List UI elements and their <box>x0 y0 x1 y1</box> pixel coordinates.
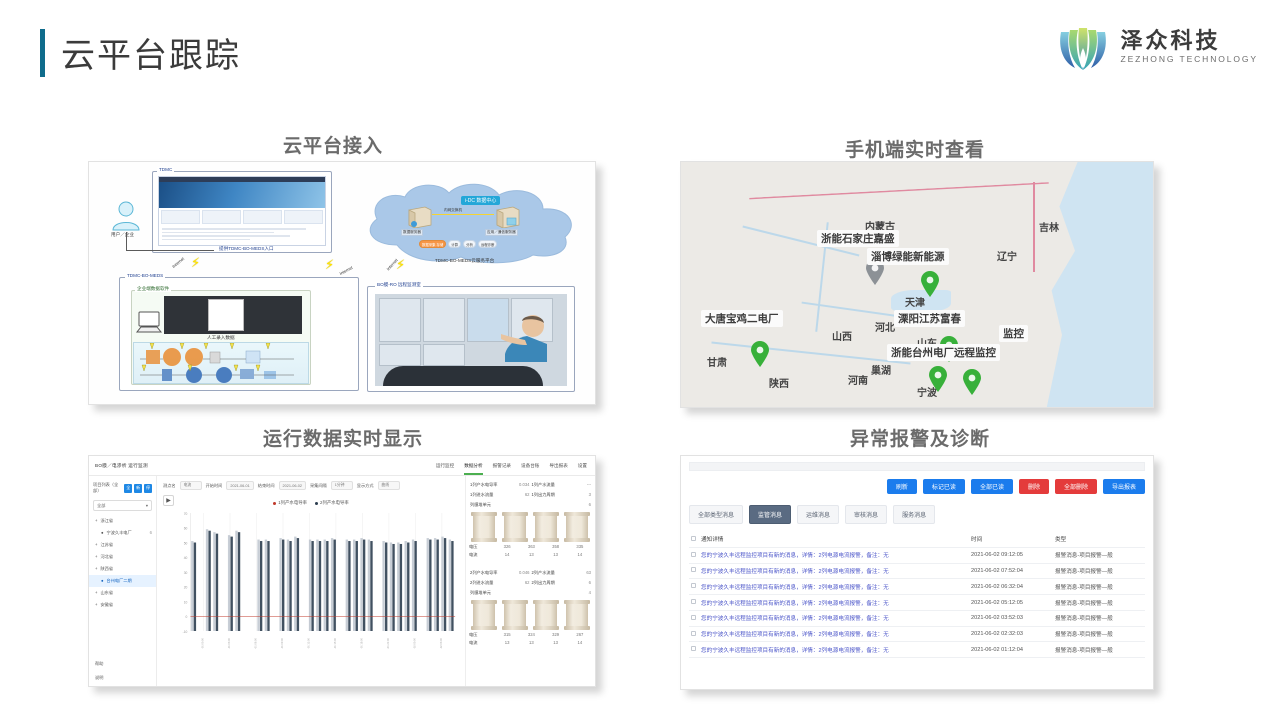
metric-row: 1列进水流量621列出力周期3 <box>469 490 592 500</box>
row-checkbox-cell[interactable] <box>689 626 699 642</box>
filter-interval-select[interactable]: 1分钟 <box>331 481 353 490</box>
column-header-detail: 通知详情 <box>699 532 969 547</box>
module-value-cell: 363 <box>519 544 543 550</box>
svg-text:0: 0 <box>186 615 188 619</box>
filter-start-date[interactable]: 2021-06-01 <box>226 481 253 490</box>
dot-icon: ● <box>101 578 104 584</box>
unit-label-text: 列膜堆单元 <box>470 590 491 596</box>
legend-label: 1列产水电导率 <box>278 500 307 506</box>
lightning-bolt-icon-1: ⚡ <box>191 256 200 269</box>
module-value-label: 电压 <box>469 632 495 638</box>
map-marker-label: 浙能石家庄嘉盛 <box>817 230 899 247</box>
membrane-unit-label: 列膜堆单元6 <box>470 502 591 508</box>
operator-person-icon <box>501 312 565 379</box>
filter-mode-select[interactable]: 曲线 <box>378 481 400 490</box>
screenshot-cloud-architecture: 用户／企业 TDMC 提供TDMC-BO-MEDS入口 i-DC 数据中心 <box>88 161 596 405</box>
dot-icon: ● <box>101 530 104 536</box>
row-type-cell: 报警消息-项目报警—般 <box>1053 547 1145 563</box>
row-detail-cell[interactable]: 您的宁波久丰远程监控项目有新的消息，详情：2列电源电流报警，备注：无 <box>699 579 969 595</box>
project-tree-item[interactable]: ●台州电厂二期 <box>89 575 156 587</box>
table-row[interactable]: 您的宁波久丰远程监控项目有新的消息，详情：2列电源电流报警，备注：无2021-0… <box>689 579 1145 595</box>
row-detail-link[interactable]: 您的宁波久丰远程监控项目有新的消息，详情：2列电源电流报警，备注：无 <box>701 569 889 575</box>
filter-row[interactable]: 测点名 电流 开始时间 2021-06-01 结束时间 2021-06-02 采… <box>157 476 465 495</box>
alarm-category-tab[interactable]: 运维消息 <box>797 505 839 524</box>
province-label: 吉林 <box>1039 219 1059 234</box>
table-row[interactable]: 您的宁波久丰远程监控项目有新的消息，详情：2列电源电流报警，备注：无2021-0… <box>689 595 1145 611</box>
enterprise-frame-label: TDMC-BO-MEDS <box>125 273 165 278</box>
row-time-cell: 2021-06-02 03:52:03 <box>969 610 1053 626</box>
filter-interval-label: 采集间隔 <box>310 483 327 489</box>
portal-website-thumbnail <box>158 176 326 246</box>
alarm-action-buttons[interactable]: 刷新标记已读全部已读删除全部删除导出报表 <box>689 479 1145 494</box>
table-row[interactable]: 您的宁波久丰远程监控项目有新的消息，详情：2列电源电流报警，备注：无2021-0… <box>689 626 1145 642</box>
module-value-cell: 14 <box>495 552 519 558</box>
dashboard-sidebar[interactable]: 项目列表（全部） 全 新 停 全部 ▾ +浙江省●宁波久丰电厂6+江苏省+河北省… <box>89 476 157 686</box>
alarm-action-button[interactable]: 全部已读 <box>971 479 1013 494</box>
svg-text:06-01 00:00: 06-01 00:00 <box>201 638 205 649</box>
sidebar-select-value: 全部 <box>97 503 105 509</box>
province-label: 甘肃 <box>707 354 727 369</box>
project-tree-label: 宁波久丰电厂 <box>107 530 132 536</box>
module-value-cell: 358 <box>544 544 568 550</box>
svg-text:-10: -10 <box>183 630 188 634</box>
row-checkbox-cell[interactable] <box>689 547 699 563</box>
map-marker-label: 浙能台州电厂远程监控 <box>887 344 1000 361</box>
row-checkbox[interactable] <box>691 646 696 651</box>
row-detail-cell[interactable]: 您的宁波久丰远程监控项目有新的消息，详情：2列电源电流报警，备注：无 <box>699 626 969 642</box>
project-tree-item[interactable]: +浙江省 <box>89 515 156 527</box>
module-value-cell: 13 <box>519 552 543 558</box>
page-title-text: 云平台跟踪 <box>61 28 241 77</box>
pill-1: 计算 <box>448 240 461 248</box>
pill-0: 数据采集 存储 <box>419 240 446 248</box>
row-detail-cell[interactable]: 您的宁波久丰远程监控项目有新的消息，详情：2列电源电流报警，备注：无 <box>699 547 969 563</box>
sidebar-footer-about[interactable]: 说明 <box>89 672 107 684</box>
dashboard-nav[interactable]: 运行监控数据分析报警记录设备台账导出报表设置 <box>436 463 587 469</box>
national-border-east <box>1033 182 1035 272</box>
row-type-cell: 报警消息-项目报警—般 <box>1053 563 1145 579</box>
alarm-table-header-row: 通知详情 时间 类型 <box>689 532 1145 547</box>
metric-value: 6 <box>589 580 591 586</box>
row-checkbox-cell[interactable] <box>689 563 699 579</box>
chart-area[interactable]: -1001020304050607006-01 00:0006-01 03:00… <box>169 509 459 649</box>
row-checkbox[interactable] <box>691 599 696 604</box>
row-detail-link[interactable]: 您的宁波久丰远程监控项目有新的消息，详情：2列电源电流报警，备注：无 <box>701 553 889 559</box>
legend-color-swatch <box>315 502 318 505</box>
row-checkbox-cell[interactable] <box>689 595 699 611</box>
module-value-cell: 13 <box>544 552 568 558</box>
svg-text:06-01 15:00: 06-01 15:00 <box>333 638 337 649</box>
row-checkbox[interactable] <box>691 631 696 636</box>
cloud-shape-icon <box>357 179 581 265</box>
expand-icon: + <box>95 542 97 548</box>
dashboard-nav-item[interactable]: 运行监控 <box>436 463 454 469</box>
select-all-checkbox-cell[interactable] <box>689 532 699 547</box>
module-value-row: 电流13131314 <box>469 640 592 646</box>
legend-label: 2列产水电导率 <box>320 500 349 506</box>
panel-title-mobile-view: 手机端实时查看 <box>845 135 985 162</box>
screenshot-alarm-table: 刷新标记已读全部已读删除全部删除导出报表 全部类型消息监管消息运维消息审核消息服… <box>680 455 1154 690</box>
row-time-cell: 2021-06-02 07:52:04 <box>969 563 1053 579</box>
svg-text:30: 30 <box>184 571 188 575</box>
sidebar-select[interactable]: 全部 ▾ <box>93 500 152 511</box>
metric-item: 2列进水流量62 <box>470 580 530 586</box>
row-detail-link[interactable]: 您的宁波久丰远程监控项目有新的消息，详情：2列电源电流报警，备注：无 <box>701 616 889 622</box>
dashboard-main: 测点名 电流 开始时间 2021-06-01 结束时间 2021-06-02 采… <box>157 476 465 686</box>
row-detail-cell[interactable]: 您的宁波久丰远程监控项目有新的消息，详情：2列电源电流报警，备注：无 <box>699 595 969 611</box>
cloud-capability-pills: 数据采集 存储 计算 分析 远程诊断 <box>419 240 497 248</box>
alarm-category-tab[interactable]: 审核消息 <box>845 505 887 524</box>
membrane-module-icon <box>504 600 526 630</box>
metric-value: 62 <box>525 492 530 498</box>
svg-text:06-02 00:00: 06-02 00:00 <box>412 638 416 649</box>
metric-label: 1列产水流量 <box>532 482 555 488</box>
filter-start-label: 开始时间 <box>206 483 223 489</box>
desktop-computer-icon <box>135 310 163 341</box>
metric-value: 63 <box>586 570 591 576</box>
svg-text:06-01 12:00: 06-01 12:00 <box>307 638 311 649</box>
expand-icon: + <box>95 602 97 608</box>
chevron-down-icon: ▾ <box>146 503 148 508</box>
row-type-cell: 报警消息-项目报警—般 <box>1053 595 1145 611</box>
internet-label-2: Internet <box>339 265 354 276</box>
filter-end-date[interactable]: 2021-06-02 <box>279 481 306 490</box>
sidebar-footer-help[interactable]: 帮助 <box>89 658 107 670</box>
metric-item: 2列产水电导率0.046 <box>470 570 530 576</box>
metric-label: 2列产水电导率 <box>470 570 497 576</box>
svg-text:06-01 18:00: 06-01 18:00 <box>359 638 363 649</box>
membrane-module-icon <box>473 512 495 542</box>
module-value-cell: 14 <box>568 640 592 646</box>
internet-label-1: Internet <box>171 256 185 269</box>
row-detail-cell[interactable]: 您的宁波久丰远程监控项目有新的消息，详情：2列电源电流报警，备注：无 <box>699 563 969 579</box>
svg-text:06-01 06:00: 06-01 06:00 <box>254 638 258 649</box>
module-value-cell: 267 <box>568 632 592 638</box>
filter-mode-label: 显示方式 <box>357 483 374 489</box>
svg-text:50: 50 <box>184 541 188 545</box>
panel-title-realtime-data: 运行数据实时显示 <box>263 424 423 451</box>
manual-input-label: 人工录入数据 <box>207 335 235 341</box>
row-checkbox-cell[interactable] <box>689 642 699 658</box>
module-value-label: 电流 <box>469 640 495 646</box>
map-marker-label: 溧阳江苏富春 <box>894 310 965 327</box>
table-row[interactable]: 您的宁波久丰远程监控项目有新的消息，详情：2列电源电流报警，备注：无2021-0… <box>689 563 1145 579</box>
row-checkbox[interactable] <box>691 615 696 620</box>
expand-icon: + <box>95 554 97 560</box>
expand-icon: + <box>95 566 97 572</box>
module-value-cell: 326 <box>495 544 519 550</box>
metric-label: 1列产水电导率 <box>470 482 497 488</box>
sea-region <box>1023 162 1153 408</box>
monitor-room-label: BO膜-RO 远程监测室 <box>375 282 423 288</box>
row-type-cell: 报警消息-项目报警—般 <box>1053 579 1145 595</box>
sidebar-filter-stop[interactable]: 停 <box>144 484 152 493</box>
svg-text:06-01 03:00: 06-01 03:00 <box>227 638 231 649</box>
svg-text:10: 10 <box>184 600 188 604</box>
unit-label-value: 6 <box>589 502 591 508</box>
project-tree-label: 山东省 <box>100 590 113 596</box>
alarm-category-tabs[interactable]: 全部类型消息监管消息运维消息审核消息服务消息 <box>689 505 1145 524</box>
module-value-cell: 14 <box>568 552 592 558</box>
screenshot-realtime-dashboard: BO膜／电渗析 运行监测 运行监控数据分析报警记录设备台账导出报表设置 项目列表… <box>88 455 596 687</box>
sidebar-header-label: 项目列表（全部） <box>93 482 122 494</box>
play-chart-icon[interactable]: ▶ <box>163 495 174 506</box>
row-type-cell: 报警消息-项目报警—般 <box>1053 626 1145 642</box>
metric-item: 2列出力周期6 <box>532 580 592 586</box>
sidebar-filter-all[interactable]: 全 <box>124 484 132 493</box>
module-value-row: 电压315324329267 <box>469 632 592 638</box>
membrane-module-icon <box>566 600 588 630</box>
metrics-group: 2列产水电导率0.0462列产水流量632列进水流量622列出力周期6列膜堆单元… <box>469 568 592 646</box>
svg-text:06-01 09:00: 06-01 09:00 <box>280 638 284 649</box>
alarm-action-button[interactable]: 删除 <box>1019 479 1049 494</box>
province-label: 陕西 <box>769 375 789 390</box>
metric-value: 62 <box>525 580 530 586</box>
map-pin-icon[interactable] <box>919 270 941 298</box>
membrane-module-icon <box>504 512 526 542</box>
module-value-label: 电流 <box>469 552 495 558</box>
module-value-label: 电压 <box>469 544 495 550</box>
dashboard-metrics-panel: 1列产水电导率0.0341列产水流量---1列进水流量621列出力周期3列膜堆单… <box>465 476 595 686</box>
screenshot-mobile-map: 内蒙古吉林辽宁河北山西甘肃陕西河南湖北重庆四川浙江山东天津巢湖宁波 大唐宝鸡二电… <box>680 161 1154 408</box>
national-border <box>749 182 1049 199</box>
cloud-datacenter-badge: i-DC 数据中心 <box>461 196 500 205</box>
unit-label-text: 列膜堆单元 <box>470 502 491 508</box>
metric-item: 1列产水电导率0.034 <box>470 482 530 488</box>
metric-row: 1列产水电导率0.0341列产水流量--- <box>469 480 592 490</box>
metric-item: 2列产水流量63 <box>532 570 592 576</box>
map-marker-label: 监控 <box>999 325 1028 342</box>
sidebar-header: 项目列表（全部） 全 新 停 <box>89 480 156 496</box>
metric-value: 0.046 <box>519 570 529 576</box>
expand-icon: + <box>95 518 97 524</box>
map-pin-icon[interactable] <box>927 365 949 393</box>
project-tree[interactable]: +浙江省●宁波久丰电厂6+江苏省+河北省+陕西省●台州电厂二期+山东省+安徽省 <box>89 515 156 611</box>
control-room-photo <box>375 294 567 386</box>
column-header-type: 类型 <box>1053 532 1145 547</box>
svg-text:20: 20 <box>184 586 188 590</box>
filter-signal-label: 测点名 <box>163 483 176 489</box>
module-value-cell: 324 <box>519 632 543 638</box>
alarm-category-tab[interactable]: 监管消息 <box>749 505 791 524</box>
svg-text:06-02 03:00: 06-02 03:00 <box>439 638 443 649</box>
title-accent-bar <box>40 29 45 77</box>
metrics-group: 1列产水电导率0.0341列产水流量---1列进水流量621列出力周期3列膜堆单… <box>469 480 592 558</box>
enterprise-soft-label: 企业端数据软件 <box>135 286 171 292</box>
project-tree-item[interactable]: +山东省 <box>89 587 156 599</box>
svg-text:60: 60 <box>184 527 188 531</box>
row-type-cell: 报警消息-项目报警—般 <box>1053 642 1145 658</box>
metric-label: 2列产水流量 <box>532 570 555 576</box>
map-marker-label: 淄博绿能新能源 <box>867 248 949 265</box>
server-data-caption: 数据服务器 <box>401 229 423 236</box>
select-all-checkbox[interactable] <box>691 536 696 541</box>
project-tree-item[interactable]: ●宁波久丰电厂6 <box>89 527 156 539</box>
row-checkbox-cell[interactable] <box>689 579 699 595</box>
lightning-bolt-icon-2: ⚡ <box>325 258 334 271</box>
dashboard-header: BO膜／电渗析 运行监测 运行监控数据分析报警记录设备台账导出报表设置 <box>89 456 595 476</box>
membrane-module-group <box>469 600 592 630</box>
map-pin-icon[interactable] <box>749 340 771 368</box>
module-value-cell: 13 <box>495 640 519 646</box>
chart-legend[interactable]: 1列产水电导率2列产水电导率 <box>157 500 465 506</box>
membrane-module-group <box>469 512 592 542</box>
unit-label-value: 4 <box>589 590 591 596</box>
svg-text:06-01 21:00: 06-01 21:00 <box>386 638 390 649</box>
row-detail-cell[interactable]: 您的宁波久丰远程监控项目有新的消息，详情：2列电源电流报警，备注：无 <box>699 642 969 658</box>
metric-label: 1列进水流量 <box>470 492 493 498</box>
project-tree-label: 台州电厂二期 <box>107 578 132 584</box>
alarm-table: 通知详情 时间 类型 您的宁波久丰远程监控项目有新的消息，详情：2列电源电流报警… <box>689 532 1145 658</box>
row-detail-link[interactable]: 您的宁波久丰远程监控项目有新的消息，详情：2列电源电流报警，备注：无 <box>701 601 889 607</box>
user-label: 用户／企业 <box>109 232 136 238</box>
alarm-category-tab[interactable]: 服务消息 <box>893 505 935 524</box>
project-tree-count: 6 <box>150 530 152 536</box>
lotus-petal-logo-icon <box>1055 18 1111 74</box>
pill-2: 分析 <box>463 240 476 248</box>
filter-signal-select[interactable]: 电流 <box>180 481 202 490</box>
legend-item[interactable]: 2列产水电导率 <box>315 500 349 506</box>
metric-row: 2列产水电导率0.0462列产水流量63 <box>469 568 592 578</box>
row-checkbox-cell[interactable] <box>689 610 699 626</box>
dashboard-nav-item[interactable]: 导出报表 <box>549 463 567 469</box>
metric-label: 2列进水流量 <box>470 580 493 586</box>
table-row[interactable]: 您的宁波久丰远程监控项目有新的消息，详情：2列电源电流报警，备注：无2021-0… <box>689 642 1145 658</box>
column-header-time: 时间 <box>969 532 1053 547</box>
dashboard-nav-item[interactable]: 设置 <box>578 463 587 469</box>
module-value-cell: 315 <box>495 632 519 638</box>
module-value-cell: 13 <box>519 640 543 646</box>
province-label: 巢湖 <box>871 362 891 377</box>
project-tree-item[interactable]: +安徽省 <box>89 599 156 611</box>
row-time-cell: 2021-06-02 06:32:04 <box>969 579 1053 595</box>
alarm-action-button[interactable]: 刷新 <box>887 479 917 494</box>
legend-item[interactable]: 1列产水电导率 <box>273 500 307 506</box>
map-pin-icon[interactable] <box>961 368 983 396</box>
server-link-label: 内网交换机 <box>443 208 463 213</box>
process-flow-diagram <box>133 342 309 384</box>
svg-text:70: 70 <box>184 512 188 516</box>
project-tree-item[interactable]: +陕西省 <box>89 563 156 575</box>
svg-text:40: 40 <box>184 556 188 560</box>
membrane-module-icon <box>535 512 557 542</box>
membrane-unit-label: 列膜堆单元4 <box>470 590 591 596</box>
panel-title-cloud-access: 云平台接入 <box>283 131 383 158</box>
logo-text-cn: 泽众科技 <box>1121 28 1221 53</box>
project-tree-item[interactable]: +江苏省 <box>89 539 156 551</box>
row-checkbox[interactable] <box>691 583 696 588</box>
row-detail-link[interactable]: 您的宁波久丰远程监控项目有新的消息，详情：2列电源电流报警，备注：无 <box>701 585 889 591</box>
metric-value: 0.034 <box>519 482 529 488</box>
project-tree-label: 安徽省 <box>100 602 113 608</box>
alarm-action-button[interactable]: 全部删除 <box>1055 479 1097 494</box>
metric-item: 1列出力周期3 <box>532 492 592 498</box>
dashboard-nav-item[interactable]: 数据分析 <box>464 463 482 469</box>
module-value-cell: 13 <box>544 640 568 646</box>
portal-frame-label: TDMC <box>157 167 174 172</box>
row-time-cell: 2021-06-02 05:12:05 <box>969 595 1053 611</box>
row-detail-link[interactable]: 您的宁波久丰远程监控项目有新的消息，详情：2列电源电流报警，备注：无 <box>701 648 889 654</box>
map-canvas[interactable]: 内蒙古吉林辽宁河北山西甘肃陕西河南湖北重庆四川浙江山东天津巢湖宁波 大唐宝鸡二电… <box>681 162 1153 407</box>
alarm-action-button[interactable]: 导出报表 <box>1103 479 1145 494</box>
row-time-cell: 2021-06-02 01:12:04 <box>969 642 1053 658</box>
scada-screen-thumbnail <box>164 296 302 334</box>
membrane-module-icon <box>535 600 557 630</box>
pill-3: 远程诊断 <box>478 240 498 248</box>
metric-value: 3 <box>589 492 591 498</box>
legend-color-swatch <box>273 502 276 505</box>
module-value-cell: 329 <box>544 632 568 638</box>
row-time-cell: 2021-06-02 09:12:05 <box>969 547 1053 563</box>
portal-entry-text: 提供TDMC-BO-MEDS入口 <box>217 246 276 252</box>
row-checkbox[interactable] <box>691 567 696 572</box>
project-tree-label: 陕西省 <box>100 566 113 572</box>
row-detail-link[interactable]: 您的宁波久丰远程监控项目有新的消息，详情：2列电源电流报警，备注：无 <box>701 632 889 638</box>
metric-item: 1列进水流量62 <box>470 492 530 498</box>
metric-row: 2列进水流量622列出力周期6 <box>469 578 592 588</box>
project-tree-item[interactable]: +河北省 <box>89 551 156 563</box>
metric-item: 1列产水流量--- <box>532 482 592 488</box>
province-label: 山西 <box>832 328 852 343</box>
filter-end-label: 结束时间 <box>258 483 275 489</box>
metric-label: 1列出力周期 <box>532 492 555 498</box>
module-value-cell: 335 <box>568 544 592 550</box>
province-label: 辽宁 <box>997 248 1017 263</box>
table-row[interactable]: 您的宁波久丰远程监控项目有新的消息，详情：2列电源电流报警，备注：无2021-0… <box>689 610 1145 626</box>
dashboard-nav-item[interactable]: 设备台账 <box>521 463 539 469</box>
cloud-caption: TDMC-BO-MEDS云服务平台 <box>435 258 494 264</box>
membrane-module-icon <box>473 600 495 630</box>
panel-title-alarm-diagnosis: 异常报警及诊断 <box>850 424 990 451</box>
project-tree-label: 江苏省 <box>100 542 113 548</box>
row-type-cell: 报警消息-项目报警—般 <box>1053 610 1145 626</box>
province-label: 河北 <box>875 319 895 334</box>
project-tree-label: 河北省 <box>100 554 113 560</box>
river-3 <box>711 342 910 364</box>
province-label: 河南 <box>848 372 868 387</box>
row-detail-cell[interactable]: 您的宁波久丰远程监控项目有新的消息，详情：2列电源电流报警，备注：无 <box>699 610 969 626</box>
dashboard-app-name: BO膜／电渗析 运行监测 <box>95 463 148 469</box>
module-value-row: 电流14131314 <box>469 552 592 558</box>
map-marker-label: 大唐宝鸡二电厂 <box>701 310 783 327</box>
sidebar-filter-new[interactable]: 新 <box>134 484 142 493</box>
server-icon-app <box>494 206 520 228</box>
metric-label: 2列出力周期 <box>532 580 555 586</box>
project-tree-label: 浙江省 <box>100 518 113 524</box>
server-icon-data <box>406 206 432 228</box>
row-time-cell: 2021-06-02 02:32:03 <box>969 626 1053 642</box>
alarm-category-tab[interactable]: 全部类型消息 <box>689 505 743 524</box>
alarm-top-strip <box>689 462 1145 471</box>
dashboard-nav-item[interactable]: 报警记录 <box>493 463 511 469</box>
module-value-row: 电压326363358335 <box>469 544 592 550</box>
expand-icon: + <box>95 590 97 596</box>
metric-value: --- <box>587 482 591 488</box>
membrane-module-icon <box>566 512 588 542</box>
page-title: 云平台跟踪 <box>40 28 241 77</box>
logo-text-en: ZEZHONG TECHNOLOGY <box>1121 54 1258 64</box>
table-row[interactable]: 您的宁波久丰远程监控项目有新的消息，详情：2列电源电流报警，备注：无2021-0… <box>689 547 1145 563</box>
alarm-action-button[interactable]: 标记已读 <box>923 479 965 494</box>
brand-logo: 泽众科技 ZEZHONG TECHNOLOGY <box>1055 18 1258 74</box>
row-checkbox[interactable] <box>691 552 696 557</box>
server-app-caption: 应用／通信服务器 <box>485 229 518 236</box>
